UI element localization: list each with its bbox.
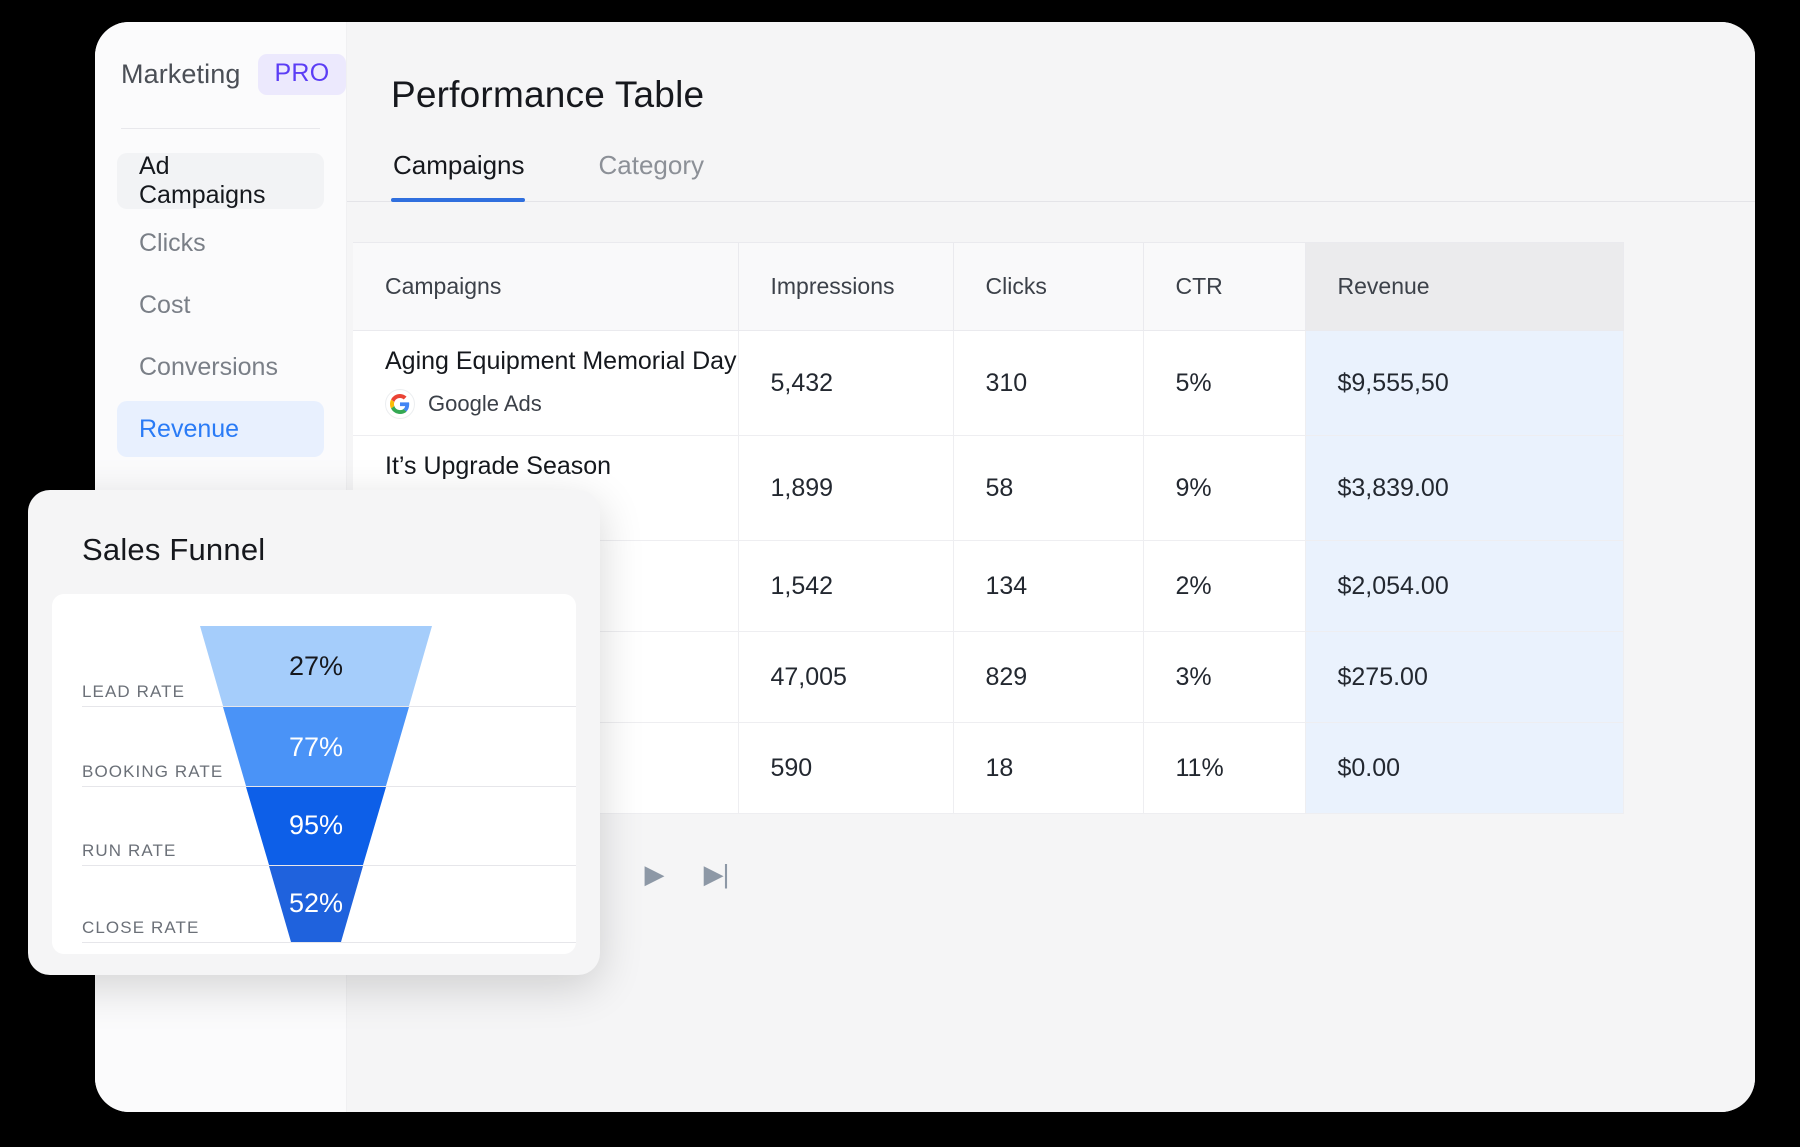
tab-bar: Campaigns Category: [347, 150, 1755, 202]
col-header-clicks[interactable]: Clicks: [953, 243, 1143, 331]
google-ads-icon: [385, 389, 415, 419]
sales-funnel-card: Sales Funnel LEAD RATE BOOKING RATE RUN …: [28, 490, 600, 975]
funnel-value-run-rate: 95%: [256, 810, 376, 841]
cell-campaign: Aging Equipment Memorial Day: [353, 331, 738, 436]
sidebar-item-label: Clicks: [139, 229, 206, 258]
sidebar-item-revenue[interactable]: Revenue: [117, 401, 324, 457]
funnel-label-lead-rate: LEAD RATE: [82, 682, 185, 702]
cell-ctr: 5%: [1143, 331, 1305, 436]
campaign-name: Aging Equipment Memorial Day: [385, 347, 738, 376]
col-header-ctr[interactable]: CTR: [1143, 243, 1305, 331]
cell-revenue: $275.00: [1305, 632, 1623, 723]
funnel-value-lead-rate: 27%: [256, 651, 376, 682]
last-page-icon[interactable]: ▶|: [685, 859, 747, 890]
cell-clicks: 58: [953, 436, 1143, 541]
cell-impressions: 1,542: [738, 541, 953, 632]
cell-clicks: 829: [953, 632, 1143, 723]
page-title: Performance Table: [347, 22, 1755, 116]
cell-impressions: 1,899: [738, 436, 953, 541]
cell-revenue: $2,054.00: [1305, 541, 1623, 632]
sidebar-item-label: Ad Campaigns: [139, 152, 302, 210]
tab-label: Campaigns: [393, 150, 525, 180]
funnel-label-run-rate: RUN RATE: [82, 841, 176, 861]
tab-label: Category: [599, 150, 705, 180]
col-header-revenue[interactable]: Revenue: [1305, 243, 1623, 331]
funnel-divider: [82, 942, 576, 943]
funnel-divider: [82, 865, 576, 866]
col-header-campaigns[interactable]: Campaigns: [353, 243, 738, 331]
cell-impressions: 5,432: [738, 331, 953, 436]
table-header-row: Campaigns Impressions Clicks CTR Revenue: [353, 243, 1623, 331]
sidebar-item-label: Cost: [139, 291, 190, 320]
source-label: Google Ads: [428, 391, 542, 417]
cell-clicks: 310: [953, 331, 1143, 436]
funnel-divider: [82, 706, 576, 707]
cell-impressions: 47,005: [738, 632, 953, 723]
table-row[interactable]: Aging Equipment Memorial Day: [353, 331, 1623, 436]
sidebar-item-cost[interactable]: Cost: [117, 277, 324, 333]
sidebar-item-label: Conversions: [139, 353, 278, 382]
tab-campaigns[interactable]: Campaigns: [391, 150, 555, 201]
sidebar-item-label: Revenue: [139, 415, 239, 444]
cell-clicks: 134: [953, 541, 1143, 632]
cell-revenue: $3,839.00: [1305, 436, 1623, 541]
sidebar-item-conversions[interactable]: Conversions: [117, 339, 324, 395]
funnel-divider: [82, 786, 576, 787]
campaign-name: It’s Upgrade Season: [385, 452, 738, 481]
next-page-icon[interactable]: ▶: [623, 859, 685, 890]
sidebar-item-clicks[interactable]: Clicks: [117, 215, 324, 271]
funnel-label-close-rate: CLOSE RATE: [82, 918, 199, 938]
cell-impressions: 590: [738, 723, 953, 814]
brand-row: Marketing PRO: [95, 50, 346, 98]
funnel-chart: LEAD RATE BOOKING RATE RUN RATE CLOSE RA…: [52, 594, 576, 954]
funnel-value-close-rate: 52%: [256, 888, 376, 919]
cell-revenue: $9,555,50: [1305, 331, 1623, 436]
tab-category[interactable]: Category: [597, 150, 735, 201]
campaign-source: Google Ads: [385, 389, 738, 419]
funnel-title: Sales Funnel: [52, 514, 576, 568]
cell-ctr: 2%: [1143, 541, 1305, 632]
sidebar-nav: Ad Campaigns Clicks Cost Conversions Rev…: [95, 153, 346, 457]
table-head: Campaigns Impressions Clicks CTR Revenue: [353, 243, 1623, 331]
cell-ctr: 9%: [1143, 436, 1305, 541]
cell-revenue: $0.00: [1305, 723, 1623, 814]
screen: Marketing PRO Ad Campaigns Clicks Cost C…: [0, 0, 1800, 1147]
cell-ctr: 11%: [1143, 723, 1305, 814]
cell-clicks: 18: [953, 723, 1143, 814]
funnel-value-booking-rate: 77%: [256, 732, 376, 763]
funnel-label-booking-rate: BOOKING RATE: [82, 762, 223, 782]
sidebar-divider: [121, 128, 320, 129]
pro-badge: PRO: [258, 54, 345, 95]
sidebar-item-ad-campaigns[interactable]: Ad Campaigns: [117, 153, 324, 209]
brand-name: Marketing: [121, 59, 240, 90]
col-header-impressions[interactable]: Impressions: [738, 243, 953, 331]
cell-ctr: 3%: [1143, 632, 1305, 723]
